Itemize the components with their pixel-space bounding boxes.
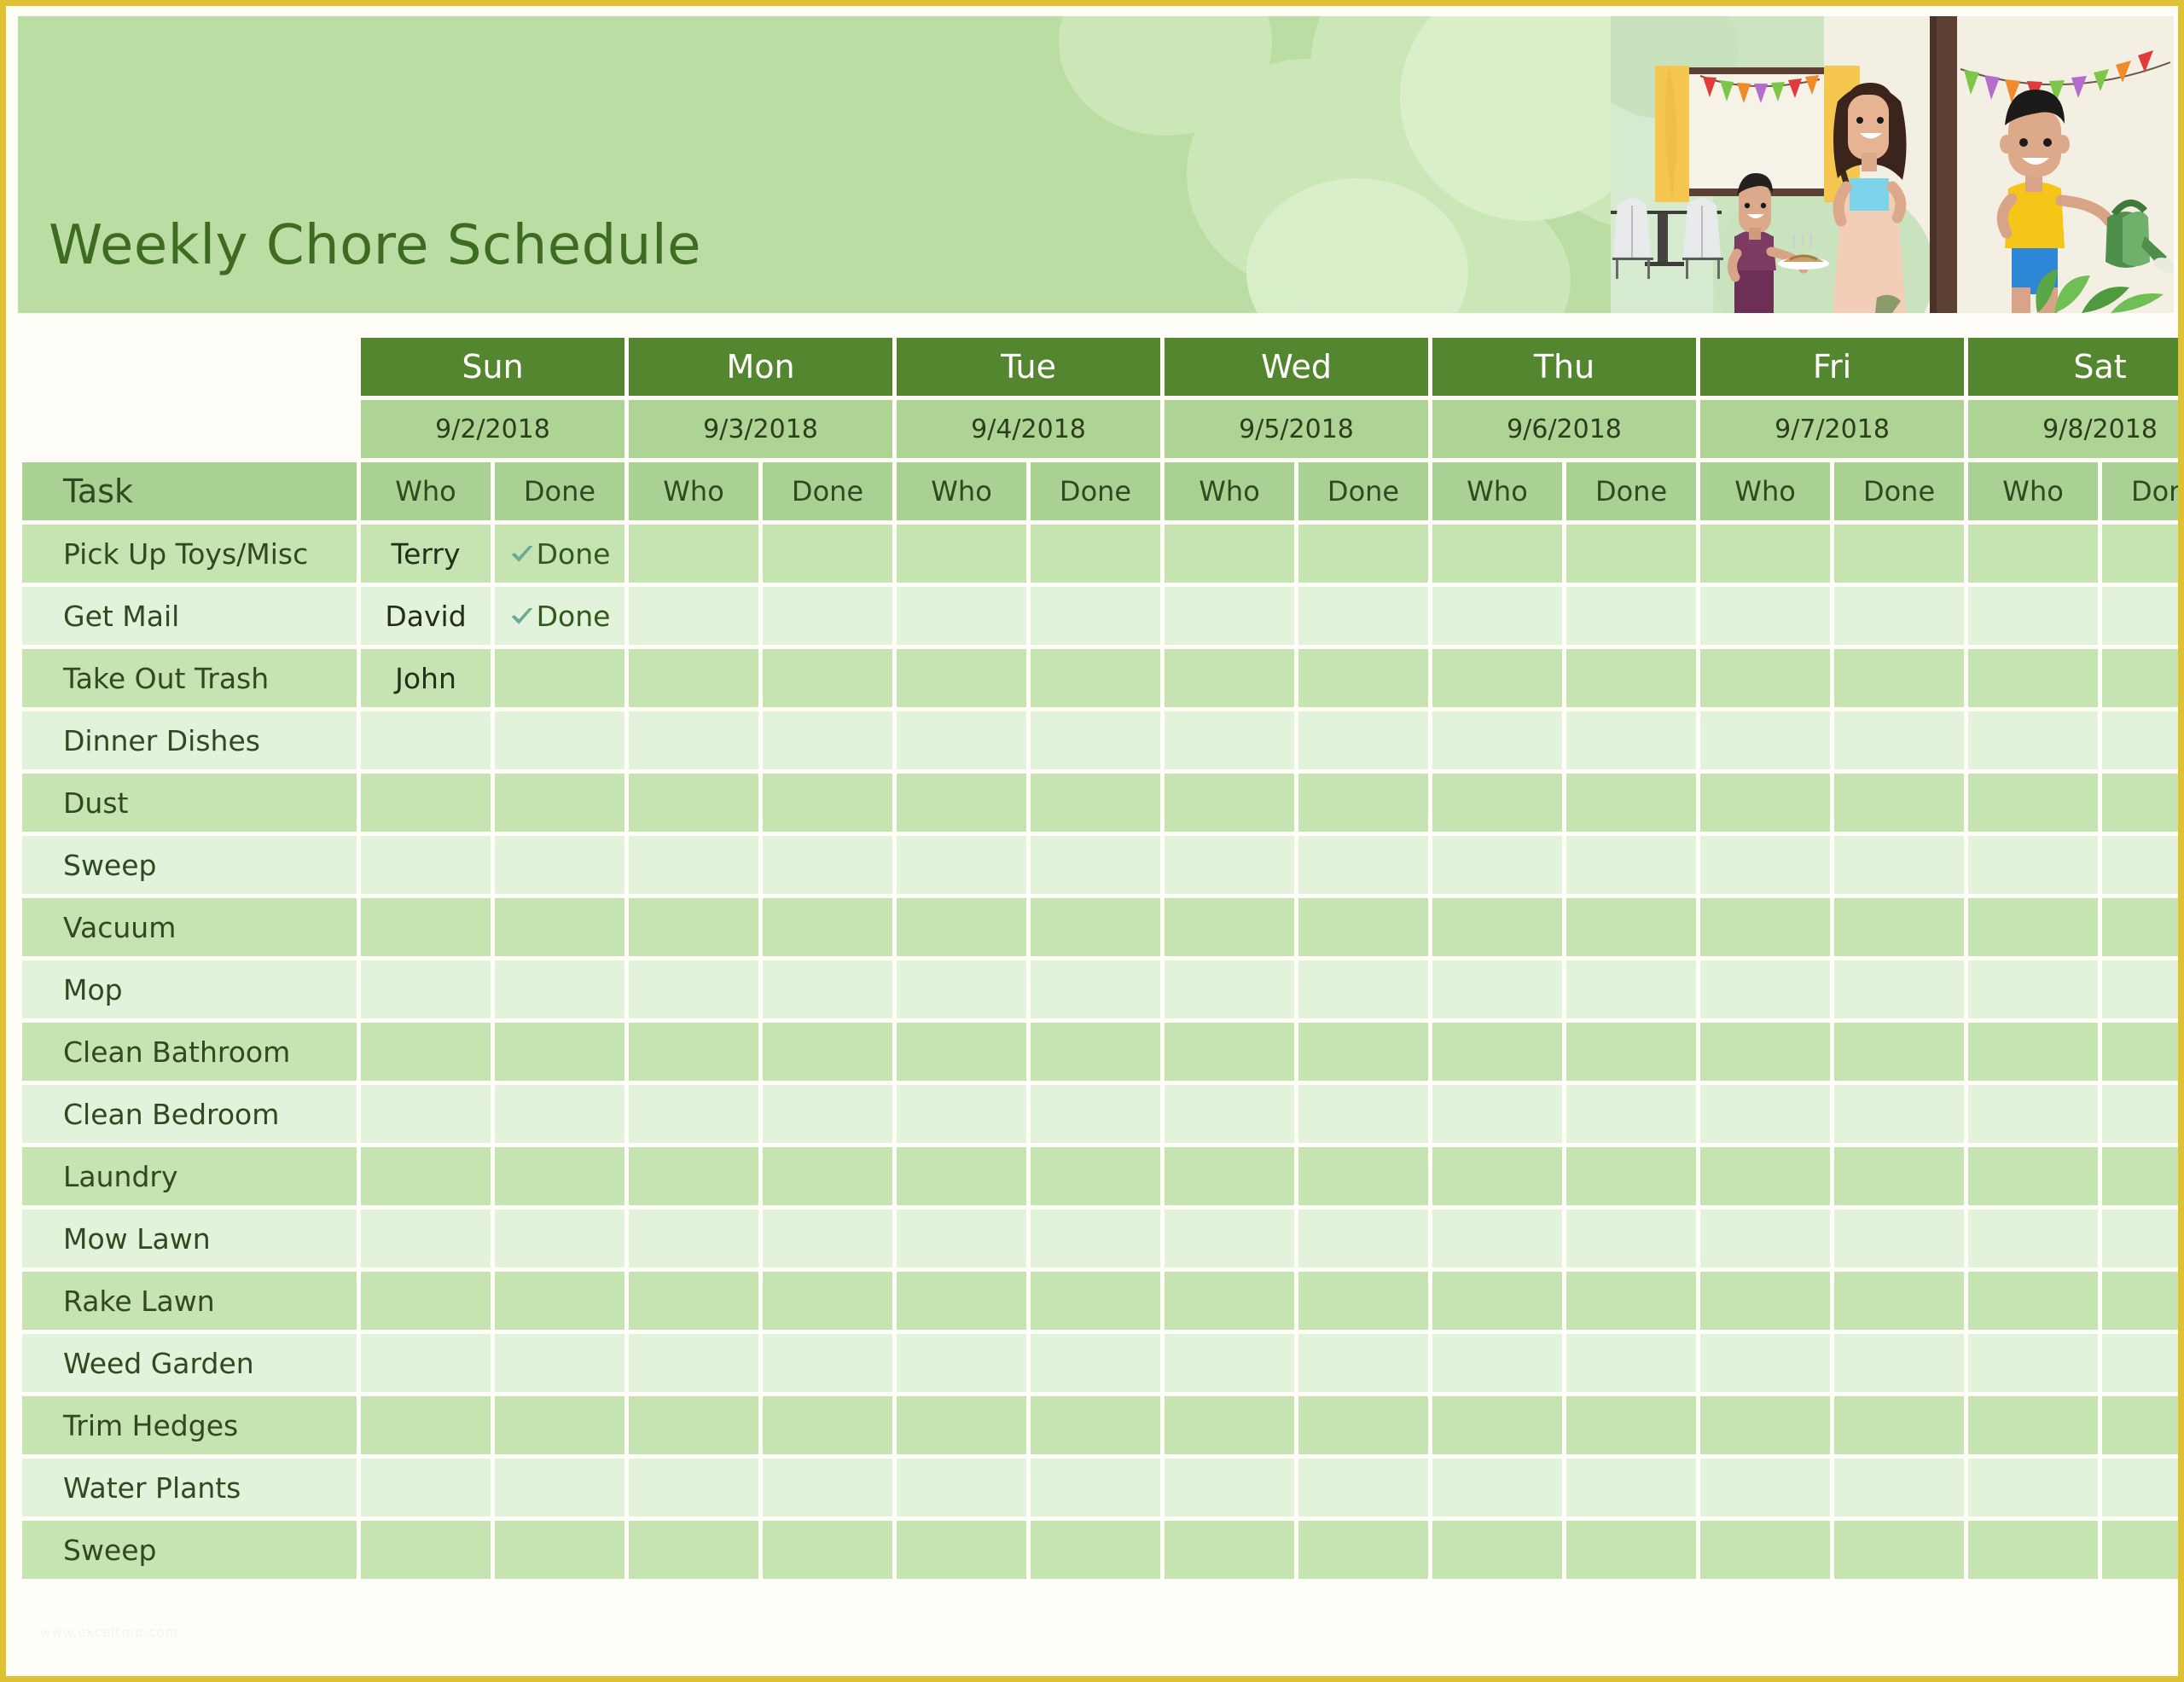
done-cell[interactable] xyxy=(763,836,892,894)
done-cell[interactable] xyxy=(495,1521,624,1579)
who-cell[interactable] xyxy=(361,1147,491,1205)
done-cell[interactable] xyxy=(2102,1396,2178,1454)
done-cell[interactable] xyxy=(763,1209,892,1267)
done-cell[interactable] xyxy=(495,960,624,1018)
done-cell[interactable] xyxy=(1031,1521,1160,1579)
done-cell[interactable] xyxy=(763,1272,892,1330)
who-cell[interactable]: John xyxy=(361,649,491,707)
check-icon xyxy=(509,604,535,629)
done-cell[interactable] xyxy=(1031,774,1160,832)
who-cell[interactable] xyxy=(897,836,1026,894)
who-cell[interactable] xyxy=(1700,836,1830,894)
who-cell[interactable] xyxy=(1165,1459,1294,1517)
done-cell[interactable] xyxy=(1834,1396,1964,1454)
who-cell[interactable] xyxy=(897,649,1026,707)
day-date-wed[interactable]: 9/5/2018 xyxy=(1165,400,1428,458)
done-cell[interactable] xyxy=(1566,1272,1696,1330)
done-cell[interactable] xyxy=(1566,1521,1696,1579)
done-cell[interactable] xyxy=(763,525,892,583)
done-cell[interactable] xyxy=(1298,711,1428,769)
done-cell[interactable] xyxy=(1031,1334,1160,1392)
done-cell[interactable] xyxy=(1031,587,1160,645)
done-cell[interactable] xyxy=(2102,711,2178,769)
done-cell[interactable] xyxy=(1834,587,1964,645)
day-header-sat: Sat xyxy=(1968,338,2178,396)
who-cell[interactable]: Terry xyxy=(361,525,491,583)
day-header-thu: Thu xyxy=(1432,338,1696,396)
who-cell[interactable] xyxy=(897,960,1026,1018)
who-cell[interactable] xyxy=(1968,1147,2098,1205)
who-cell[interactable] xyxy=(1700,525,1830,583)
who-cell[interactable] xyxy=(1700,960,1830,1018)
who-cell[interactable] xyxy=(1968,1396,2098,1454)
done-cell[interactable] xyxy=(1298,525,1428,583)
table-row: Weed Garden xyxy=(22,1334,2178,1392)
done-cell[interactable] xyxy=(1834,960,1964,1018)
who-cell[interactable] xyxy=(1432,1521,1562,1579)
who-cell[interactable] xyxy=(629,1334,758,1392)
who-cell[interactable] xyxy=(1968,836,2098,894)
who-cell[interactable] xyxy=(1165,1521,1294,1579)
task-name-cell[interactable]: Dust xyxy=(22,774,357,832)
who-cell[interactable] xyxy=(1968,1334,2098,1392)
table-corner-blank-2 xyxy=(22,400,357,458)
who-cell[interactable] xyxy=(1968,960,2098,1018)
table-row: Mop xyxy=(22,960,2178,1018)
done-cell[interactable] xyxy=(1031,1459,1160,1517)
done-cell[interactable] xyxy=(1298,960,1428,1018)
who-cell[interactable] xyxy=(1700,1521,1830,1579)
done-cell[interactable] xyxy=(1031,1396,1160,1454)
who-cell[interactable] xyxy=(1165,1085,1294,1143)
table-row: Dinner Dishes xyxy=(22,711,2178,769)
weekly-chore-table: SunMonTueWedThuFriSat 9/2/20189/3/20189/… xyxy=(18,333,2178,1583)
done-cell[interactable] xyxy=(2102,1272,2178,1330)
done-cell[interactable] xyxy=(763,1459,892,1517)
done-cell[interactable] xyxy=(1031,1272,1160,1330)
table-row: Clean Bathroom xyxy=(22,1023,2178,1081)
done-cell[interactable] xyxy=(2102,836,2178,894)
done-cell[interactable]: Done xyxy=(495,587,624,645)
who-cell[interactable] xyxy=(897,774,1026,832)
who-cell[interactable] xyxy=(1165,774,1294,832)
who-cell[interactable] xyxy=(897,1023,1026,1081)
done-cell[interactable] xyxy=(1031,525,1160,583)
task-name-cell[interactable]: Get Mail xyxy=(22,587,357,645)
done-cell[interactable] xyxy=(1834,711,1964,769)
done-cell[interactable] xyxy=(1031,898,1160,956)
task-name-cell[interactable]: Mow Lawn xyxy=(22,1209,357,1267)
task-name-cell[interactable]: Pick Up Toys/Misc xyxy=(22,525,357,583)
day-date-mon[interactable]: 9/3/2018 xyxy=(629,400,892,458)
done-cell[interactable] xyxy=(1834,1147,1964,1205)
done-cell[interactable] xyxy=(495,1147,624,1205)
done-cell[interactable] xyxy=(1031,836,1160,894)
done-cell[interactable] xyxy=(1834,898,1964,956)
done-cell[interactable] xyxy=(495,1085,624,1143)
done-cell[interactable] xyxy=(495,1334,624,1392)
who-cell[interactable] xyxy=(897,1334,1026,1392)
who-cell[interactable] xyxy=(629,711,758,769)
done-cell[interactable] xyxy=(1031,711,1160,769)
done-cell[interactable] xyxy=(763,1085,892,1143)
who-cell[interactable] xyxy=(1968,1085,2098,1143)
done-cell[interactable] xyxy=(2102,1023,2178,1081)
done-cell[interactable] xyxy=(1298,1521,1428,1579)
done-cell[interactable] xyxy=(1031,649,1160,707)
who-cell[interactable] xyxy=(1165,898,1294,956)
day-header-sun: Sun xyxy=(361,338,624,396)
task-name-cell[interactable]: Sweep xyxy=(22,836,357,894)
who-cell[interactable] xyxy=(629,1272,758,1330)
who-cell[interactable] xyxy=(361,1521,491,1579)
done-cell[interactable] xyxy=(495,711,624,769)
done-cell[interactable] xyxy=(763,774,892,832)
done-cell[interactable] xyxy=(1298,587,1428,645)
who-cell[interactable] xyxy=(361,1209,491,1267)
who-cell[interactable] xyxy=(1165,1023,1294,1081)
done-cell[interactable] xyxy=(495,649,624,707)
done-cell[interactable] xyxy=(1566,1209,1696,1267)
who-cell[interactable] xyxy=(1968,898,2098,956)
done-cell[interactable]: Done xyxy=(495,525,624,583)
done-cell[interactable] xyxy=(1566,1459,1696,1517)
done-cell[interactable] xyxy=(763,587,892,645)
who-cell[interactable] xyxy=(1700,1334,1830,1392)
who-cell[interactable] xyxy=(897,711,1026,769)
who-cell[interactable] xyxy=(897,1521,1026,1579)
done-cell[interactable] xyxy=(2102,587,2178,645)
done-cell[interactable] xyxy=(1566,836,1696,894)
who-cell[interactable] xyxy=(629,836,758,894)
who-cell[interactable] xyxy=(1165,649,1294,707)
who-cell[interactable] xyxy=(361,1334,491,1392)
done-cell[interactable] xyxy=(495,898,624,956)
done-cell[interactable] xyxy=(1834,649,1964,707)
who-cell[interactable] xyxy=(1432,1334,1562,1392)
done-cell[interactable] xyxy=(1298,774,1428,832)
who-cell[interactable] xyxy=(1165,960,1294,1018)
who-cell[interactable] xyxy=(629,1085,758,1143)
done-cell[interactable] xyxy=(763,649,892,707)
who-cell[interactable] xyxy=(629,649,758,707)
who-cell[interactable] xyxy=(1165,1334,1294,1392)
who-cell[interactable] xyxy=(1165,525,1294,583)
task-column-header: Task xyxy=(22,462,357,520)
done-cell[interactable] xyxy=(1834,1085,1964,1143)
done-cell[interactable] xyxy=(1298,1147,1428,1205)
done-cell[interactable] xyxy=(1566,649,1696,707)
who-cell[interactable] xyxy=(1700,1023,1830,1081)
done-cell[interactable] xyxy=(2102,1085,2178,1143)
who-cell[interactable] xyxy=(1968,1521,2098,1579)
who-column-header-thu: Who xyxy=(1432,462,1562,520)
who-cell[interactable] xyxy=(629,1459,758,1517)
who-cell[interactable] xyxy=(629,774,758,832)
done-cell[interactable] xyxy=(1566,1085,1696,1143)
done-cell[interactable] xyxy=(2102,1147,2178,1205)
done-cell[interactable] xyxy=(1834,1023,1964,1081)
table-row: Sweep xyxy=(22,836,2178,894)
done-cell[interactable] xyxy=(1566,1334,1696,1392)
who-cell[interactable] xyxy=(1432,836,1562,894)
done-cell[interactable] xyxy=(2102,1459,2178,1517)
task-name-cell[interactable]: Clean Bathroom xyxy=(22,1023,357,1081)
done-cell[interactable] xyxy=(495,1396,624,1454)
who-cell[interactable] xyxy=(629,1521,758,1579)
chore-schedule-page: Weekly Chore Schedule SunMonTueWedThuFri… xyxy=(0,0,2184,1682)
done-cell[interactable] xyxy=(1566,525,1696,583)
done-cell[interactable] xyxy=(495,1023,624,1081)
who-cell[interactable] xyxy=(361,898,491,956)
who-cell[interactable] xyxy=(361,836,491,894)
done-cell[interactable] xyxy=(1566,1147,1696,1205)
task-name-cell[interactable]: Rake Lawn xyxy=(22,1272,357,1330)
day-date-sun[interactable]: 9/2/2018 xyxy=(361,400,624,458)
who-cell[interactable] xyxy=(897,525,1026,583)
who-cell[interactable] xyxy=(1432,649,1562,707)
done-cell[interactable] xyxy=(1566,1396,1696,1454)
table-row: Water Plants xyxy=(22,1459,2178,1517)
who-cell[interactable] xyxy=(1432,1396,1562,1454)
who-column-header-tue: Who xyxy=(897,462,1026,520)
done-cell[interactable] xyxy=(2102,774,2178,832)
done-cell[interactable] xyxy=(495,774,624,832)
who-cell[interactable] xyxy=(1968,587,2098,645)
who-cell[interactable] xyxy=(361,711,491,769)
who-cell[interactable] xyxy=(1165,587,1294,645)
who-cell[interactable] xyxy=(1165,1396,1294,1454)
done-cell[interactable] xyxy=(495,1459,624,1517)
column-subheader-row: TaskWhoDoneWhoDoneWhoDoneWhoDoneWhoDoneW… xyxy=(22,462,2178,520)
done-cell[interactable] xyxy=(495,1272,624,1330)
done-cell[interactable] xyxy=(1298,1085,1428,1143)
page-title: Weekly Chore Schedule xyxy=(49,214,701,277)
task-name-cell[interactable]: Vacuum xyxy=(22,898,357,956)
who-cell[interactable] xyxy=(1432,960,1562,1018)
done-cell[interactable] xyxy=(1566,960,1696,1018)
who-cell[interactable] xyxy=(1700,1147,1830,1205)
done-cell[interactable] xyxy=(1566,1023,1696,1081)
who-cell[interactable] xyxy=(1968,774,2098,832)
task-name-cell[interactable]: Weed Garden xyxy=(22,1334,357,1392)
day-header-tue: Tue xyxy=(897,338,1160,396)
done-cell[interactable] xyxy=(2102,898,2178,956)
done-cell[interactable] xyxy=(2102,1521,2178,1579)
who-cell[interactable] xyxy=(361,1272,491,1330)
done-cell[interactable] xyxy=(1298,898,1428,956)
done-cell[interactable] xyxy=(1566,898,1696,956)
done-cell[interactable] xyxy=(763,1396,892,1454)
who-cell[interactable] xyxy=(361,774,491,832)
done-cell[interactable] xyxy=(1298,1209,1428,1267)
table-row: Laundry xyxy=(22,1147,2178,1205)
who-cell[interactable] xyxy=(1700,1396,1830,1454)
who-cell[interactable] xyxy=(897,1085,1026,1143)
done-cell[interactable] xyxy=(1031,1085,1160,1143)
done-cell[interactable] xyxy=(763,960,892,1018)
done-cell[interactable] xyxy=(1566,587,1696,645)
day-date-thu[interactable]: 9/6/2018 xyxy=(1432,400,1696,458)
who-cell[interactable] xyxy=(1700,1085,1830,1143)
table-row: Rake Lawn xyxy=(22,1272,2178,1330)
who-cell[interactable] xyxy=(1432,774,1562,832)
family-doing-chores-illustration xyxy=(1611,16,2174,313)
task-name-cell[interactable]: Sweep xyxy=(22,1521,357,1579)
who-cell[interactable] xyxy=(897,1272,1026,1330)
done-cell[interactable] xyxy=(495,836,624,894)
done-column-header-mon: Done xyxy=(763,462,892,520)
who-cell[interactable] xyxy=(1968,525,2098,583)
who-cell[interactable] xyxy=(629,1396,758,1454)
done-cell[interactable] xyxy=(1834,774,1964,832)
who-cell[interactable] xyxy=(1968,649,2098,707)
who-cell[interactable] xyxy=(629,960,758,1018)
table-row: Take Out TrashJohn xyxy=(22,649,2178,707)
task-name-cell[interactable]: Mop xyxy=(22,960,357,1018)
who-cell[interactable] xyxy=(1432,1272,1562,1330)
day-date-sat[interactable]: 9/8/2018 xyxy=(1968,400,2178,458)
day-header-fri: Fri xyxy=(1700,338,1964,396)
who-cell[interactable] xyxy=(1700,1459,1830,1517)
task-name-cell[interactable]: Water Plants xyxy=(22,1459,357,1517)
done-cell[interactable] xyxy=(763,1521,892,1579)
done-cell[interactable] xyxy=(1566,711,1696,769)
who-cell[interactable] xyxy=(1968,1209,2098,1267)
who-cell[interactable] xyxy=(897,587,1026,645)
day-date-fri[interactable]: 9/7/2018 xyxy=(1700,400,1964,458)
done-cell[interactable] xyxy=(1834,1459,1964,1517)
done-cell[interactable] xyxy=(2102,525,2178,583)
who-cell[interactable] xyxy=(897,1459,1026,1517)
who-cell[interactable] xyxy=(629,1023,758,1081)
who-cell[interactable] xyxy=(1165,836,1294,894)
who-cell[interactable] xyxy=(1968,711,2098,769)
who-cell[interactable] xyxy=(1700,774,1830,832)
who-cell[interactable] xyxy=(897,1147,1026,1205)
day-date-header-row: 9/2/20189/3/20189/4/20189/5/20189/6/2018… xyxy=(22,400,2178,458)
day-header-wed: Wed xyxy=(1165,338,1428,396)
who-cell[interactable] xyxy=(1700,711,1830,769)
who-cell[interactable] xyxy=(1700,587,1830,645)
who-cell[interactable] xyxy=(629,898,758,956)
who-cell[interactable]: David xyxy=(361,587,491,645)
who-column-header-sun: Who xyxy=(361,462,491,520)
who-cell[interactable] xyxy=(629,587,758,645)
who-cell[interactable] xyxy=(629,1209,758,1267)
task-name-cell[interactable]: Take Out Trash xyxy=(22,649,357,707)
who-cell[interactable] xyxy=(361,1023,491,1081)
task-name-cell[interactable]: Dinner Dishes xyxy=(22,711,357,769)
check-icon xyxy=(509,542,535,567)
done-cell[interactable] xyxy=(1298,649,1428,707)
done-cell[interactable] xyxy=(1031,1209,1160,1267)
who-cell[interactable] xyxy=(1700,649,1830,707)
table-row: Vacuum xyxy=(22,898,2178,956)
done-column-header-fri: Done xyxy=(1834,462,1964,520)
done-cell[interactable] xyxy=(1298,836,1428,894)
done-cell[interactable] xyxy=(1566,774,1696,832)
who-cell[interactable] xyxy=(897,1209,1026,1267)
who-cell[interactable] xyxy=(1968,1459,2098,1517)
done-column-header-tue: Done xyxy=(1031,462,1160,520)
done-cell[interactable] xyxy=(2102,960,2178,1018)
who-cell[interactable] xyxy=(1432,1147,1562,1205)
table-row: Pick Up Toys/MiscTerryDone xyxy=(22,525,2178,583)
who-cell[interactable] xyxy=(361,960,491,1018)
who-cell[interactable] xyxy=(1700,898,1830,956)
done-cell[interactable] xyxy=(1298,1023,1428,1081)
who-cell[interactable] xyxy=(1432,898,1562,956)
done-cell[interactable] xyxy=(2102,1334,2178,1392)
who-cell[interactable] xyxy=(361,1396,491,1454)
who-cell[interactable] xyxy=(361,1085,491,1143)
done-cell[interactable] xyxy=(2102,1209,2178,1267)
who-cell[interactable] xyxy=(1432,587,1562,645)
done-cell[interactable] xyxy=(763,711,892,769)
done-cell[interactable] xyxy=(1834,1272,1964,1330)
done-column-header-wed: Done xyxy=(1298,462,1428,520)
who-cell[interactable] xyxy=(897,898,1026,956)
who-cell[interactable] xyxy=(1165,1209,1294,1267)
who-cell[interactable] xyxy=(1700,1209,1830,1267)
table-row: Sweep xyxy=(22,1521,2178,1579)
done-cell[interactable] xyxy=(1031,1023,1160,1081)
done-cell[interactable] xyxy=(1834,1521,1964,1579)
table-row: Clean Bedroom xyxy=(22,1085,2178,1143)
done-cell[interactable] xyxy=(763,1334,892,1392)
who-cell[interactable] xyxy=(629,525,758,583)
done-cell[interactable] xyxy=(1298,1334,1428,1392)
who-cell[interactable] xyxy=(629,1147,758,1205)
done-cell[interactable] xyxy=(763,1023,892,1081)
done-cell[interactable] xyxy=(763,898,892,956)
who-cell[interactable] xyxy=(1165,711,1294,769)
done-cell[interactable] xyxy=(763,1147,892,1205)
task-name-cell[interactable]: Clean Bedroom xyxy=(22,1085,357,1143)
who-cell[interactable] xyxy=(1432,711,1562,769)
who-cell[interactable] xyxy=(1432,1023,1562,1081)
who-cell[interactable] xyxy=(1700,1272,1830,1330)
who-cell[interactable] xyxy=(1968,1023,2098,1081)
who-cell[interactable] xyxy=(897,1396,1026,1454)
who-cell[interactable] xyxy=(1432,1085,1562,1143)
task-name-cell[interactable]: Laundry xyxy=(22,1147,357,1205)
done-cell[interactable] xyxy=(1834,525,1964,583)
schedule-table-wrapper: SunMonTueWedThuFriSat 9/2/20189/3/20189/… xyxy=(18,333,2174,1583)
task-name-cell[interactable]: Trim Hedges xyxy=(22,1396,357,1454)
done-cell[interactable] xyxy=(1031,1147,1160,1205)
who-cell[interactable] xyxy=(1165,1272,1294,1330)
done-cell[interactable] xyxy=(1298,1396,1428,1454)
who-cell[interactable] xyxy=(1432,525,1562,583)
done-cell[interactable] xyxy=(1031,960,1160,1018)
done-cell[interactable] xyxy=(1298,1272,1428,1330)
who-cell[interactable] xyxy=(1432,1209,1562,1267)
who-cell[interactable] xyxy=(1968,1272,2098,1330)
done-cell[interactable] xyxy=(1834,836,1964,894)
done-cell[interactable] xyxy=(1298,1459,1428,1517)
who-cell[interactable] xyxy=(361,1459,491,1517)
done-cell[interactable] xyxy=(1834,1209,1964,1267)
who-cell[interactable] xyxy=(1165,1147,1294,1205)
day-header-mon: Mon xyxy=(629,338,892,396)
done-cell[interactable] xyxy=(1834,1334,1964,1392)
done-cell[interactable] xyxy=(2102,649,2178,707)
who-cell[interactable] xyxy=(1432,1459,1562,1517)
day-date-tue[interactable]: 9/4/2018 xyxy=(897,400,1160,458)
done-cell[interactable] xyxy=(495,1209,624,1267)
